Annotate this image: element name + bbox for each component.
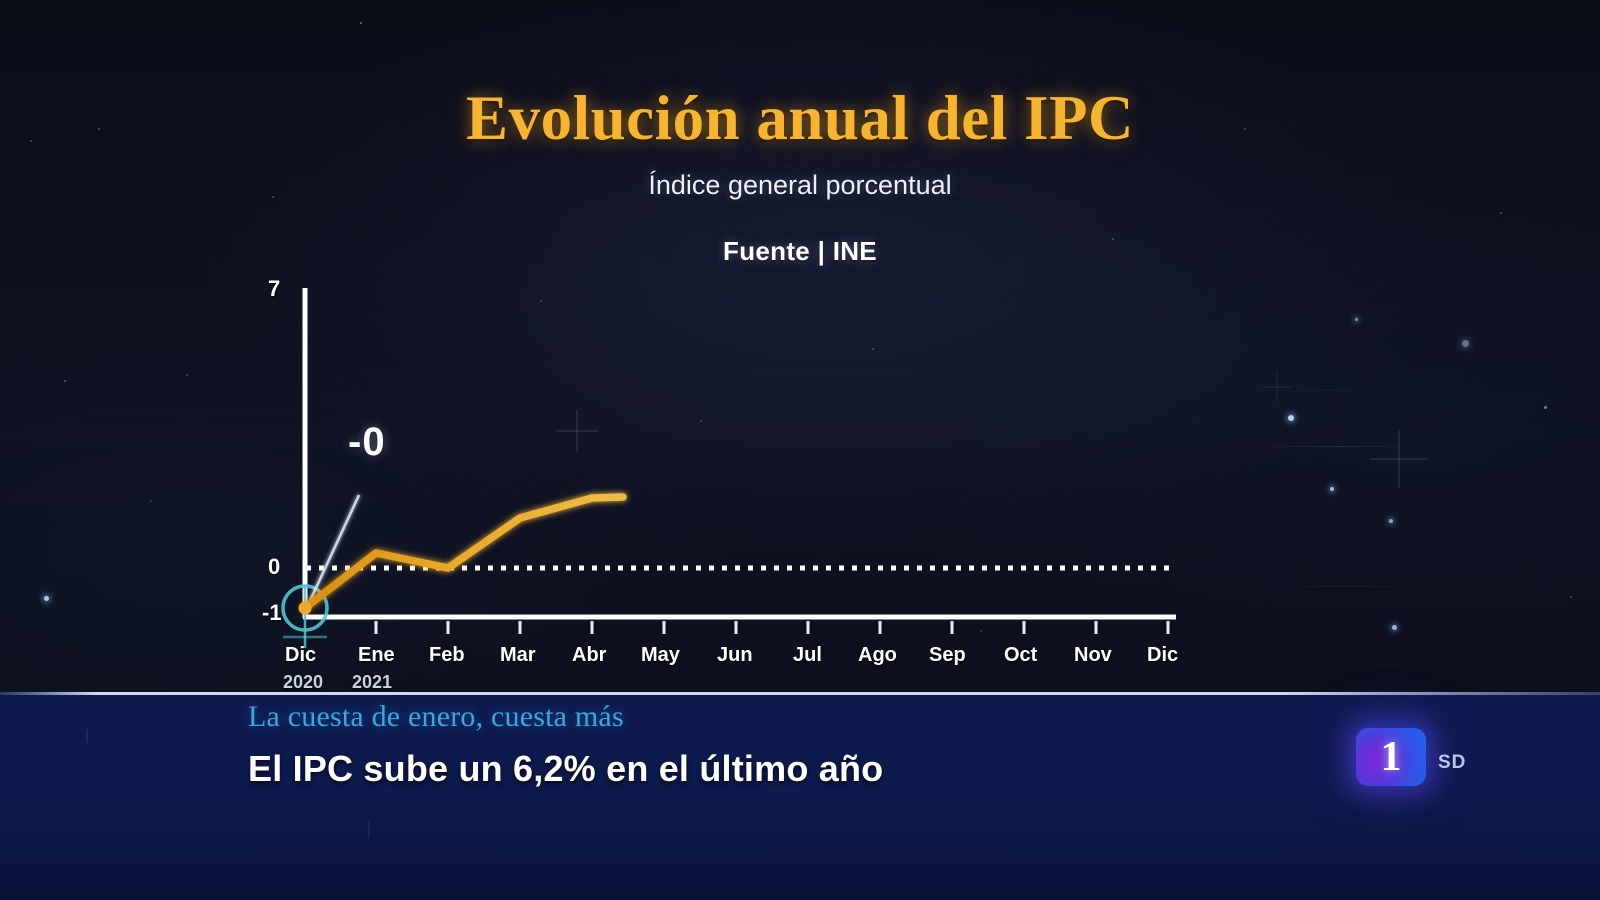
x-tick-label-feb: Feb — [429, 644, 465, 667]
x-axis-year-2020: 2020 — [283, 672, 323, 693]
y-tick-label-neg1: -1 — [262, 600, 282, 626]
x-tick-label-jul: Jul — [793, 644, 822, 667]
x-tick-label-sep: Sep — [929, 644, 966, 667]
channel-quality-label: SD — [1438, 752, 1466, 774]
lower-third-banner — [0, 692, 1600, 900]
x-tick-label-ago: Ago — [858, 644, 897, 667]
x-tick-label-ene: Ene — [358, 644, 395, 667]
broadcast-graphic-stage: Evolución anual del IPC Índice general p… — [0, 0, 1600, 900]
x-tick-label-abr: Abr — [572, 644, 606, 667]
lower-third-headline: El IPC sube un 6,2% en el último año — [248, 748, 883, 790]
x-tick-label-mar: Mar — [500, 644, 536, 667]
channel-number: 1 — [1381, 736, 1402, 778]
y-tick-label-7: 7 — [268, 276, 280, 302]
x-tick-label-jun: Jun — [717, 644, 753, 667]
x-axis-ticks — [376, 621, 1168, 634]
x-tick-label-oct: Oct — [1004, 644, 1037, 667]
callout-value-label: -0 — [348, 420, 386, 465]
y-tick-label-0: 0 — [268, 554, 280, 580]
data-point-marker-dic — [299, 602, 312, 615]
ipc-data-line — [305, 497, 623, 608]
x-tick-label-nov: Nov — [1074, 644, 1112, 667]
x-axis-year-2021: 2021 — [352, 672, 392, 693]
channel-logo: 1 — [1356, 728, 1426, 786]
lower-third-kicker: La cuesta de enero, cuesta más — [248, 700, 624, 734]
x-tick-label-dic-2021: Dic — [1147, 644, 1178, 667]
lower-third-texture — [0, 692, 1600, 900]
x-tick-label-dic-2020: Dic — [285, 644, 316, 667]
x-tick-label-may: May — [641, 644, 680, 667]
